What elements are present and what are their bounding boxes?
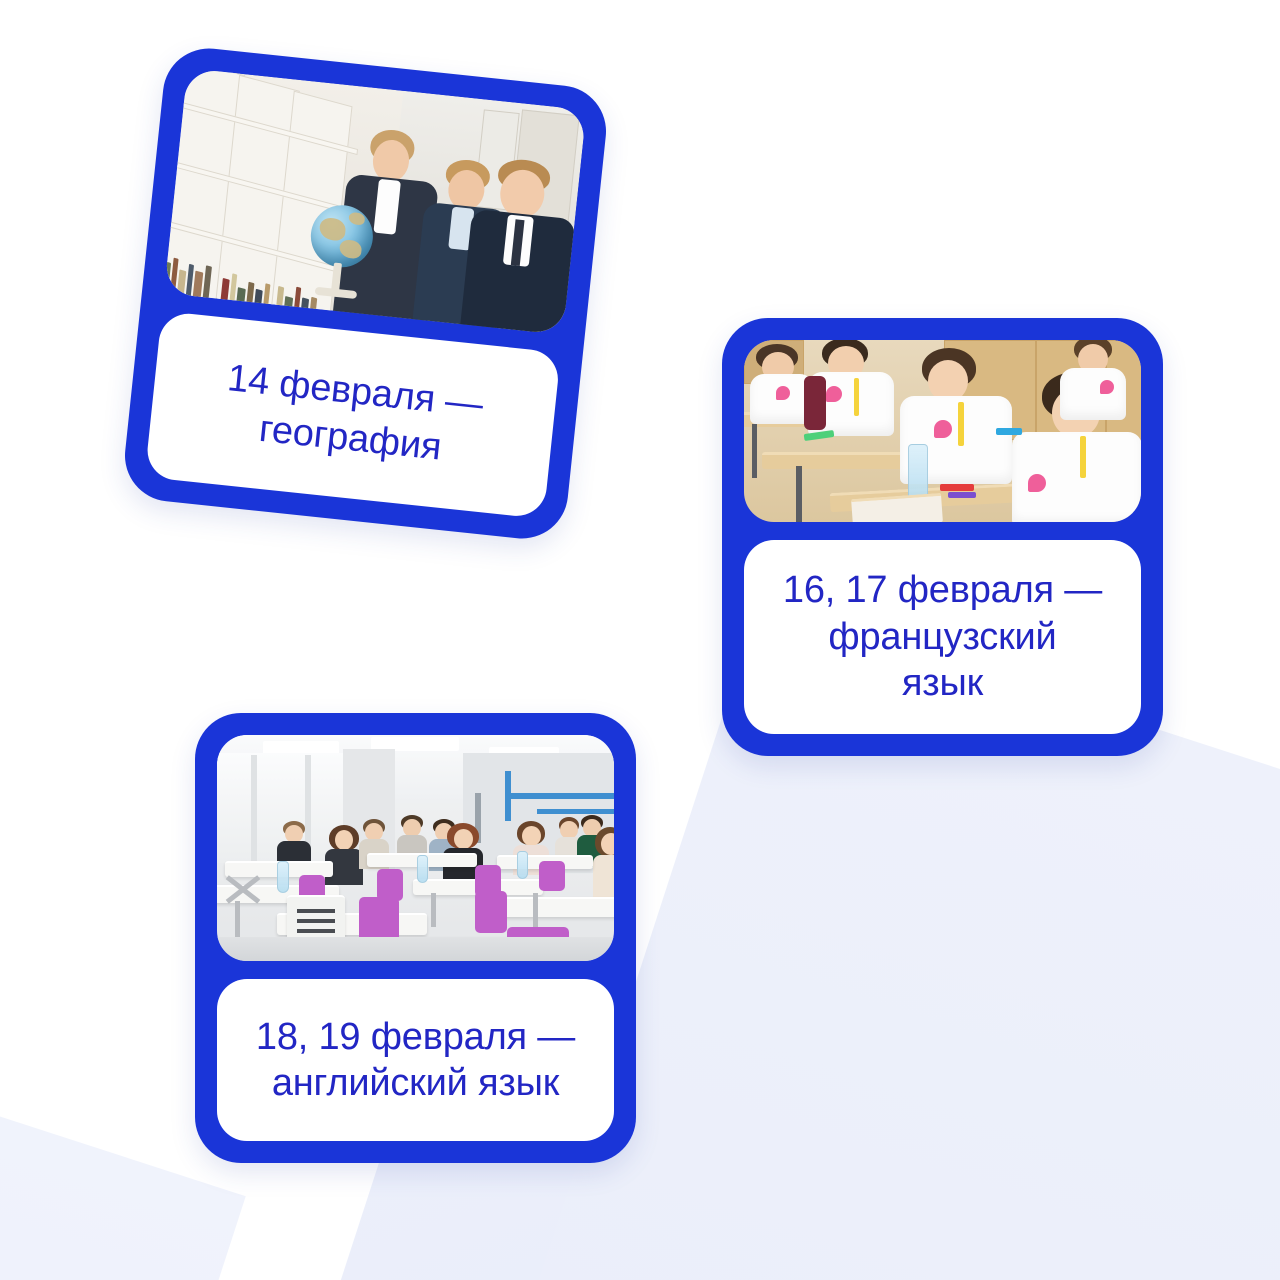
card-geography-label: 14 февраля — география	[145, 311, 561, 519]
pen-red	[940, 484, 974, 491]
pen-blue	[996, 428, 1022, 435]
bottle-mid	[417, 855, 428, 883]
card-geography-label-text: 14 февраля — география	[220, 355, 485, 474]
library-scene-illustration	[164, 68, 586, 335]
chair-6	[475, 891, 507, 933]
bottle-right	[517, 851, 528, 879]
wall-stripe-horizontal-1	[505, 793, 614, 799]
panel-slot-1	[297, 909, 335, 913]
card-english-label: 18, 19 февраля — английский язык	[217, 979, 614, 1141]
table-leg-4	[533, 893, 538, 927]
poster-canvas: 14 февраля — география	[0, 0, 1280, 1280]
panel-slot-3	[297, 929, 335, 933]
card-geography[interactable]: 14 февраля — география	[120, 44, 610, 543]
card-english-label-text: 18, 19 февраля — английский язык	[256, 1014, 575, 1107]
table-front-right	[503, 897, 614, 917]
card-french-label: 16, 17 февраля — французский язык	[744, 540, 1141, 734]
student-back-right	[1060, 340, 1126, 424]
desk-leg-1	[752, 424, 757, 478]
window-mullion-1	[251, 755, 257, 863]
table-leg-1	[235, 901, 240, 941]
panel-slot-2	[297, 919, 335, 923]
answer-sheet	[851, 493, 943, 522]
card-french[interactable]: 16, 17 февраля — французский язык	[722, 318, 1163, 756]
card-french-photo	[744, 340, 1141, 522]
chair-4	[539, 861, 565, 891]
classroom-scene-illustration	[217, 735, 614, 961]
floor	[217, 937, 614, 961]
table-leg-3	[431, 893, 436, 927]
exam-scene-illustration	[744, 340, 1141, 522]
person-student-foreground	[459, 155, 581, 335]
bottle-left	[277, 861, 289, 893]
card-english[interactable]: 18, 19 февраля — английский язык	[195, 713, 636, 1163]
seated-person-10	[593, 827, 614, 897]
card-english-photo	[217, 735, 614, 961]
student-glasses	[808, 340, 894, 444]
card-french-label-text: 16, 17 февраля — французский язык	[783, 567, 1102, 706]
wall-stripe-horizontal-2	[537, 809, 614, 814]
desk-leg-2	[796, 466, 802, 522]
desk-mid-left	[762, 452, 922, 469]
pen-purple	[948, 492, 976, 498]
card-geography-photo	[164, 68, 586, 335]
